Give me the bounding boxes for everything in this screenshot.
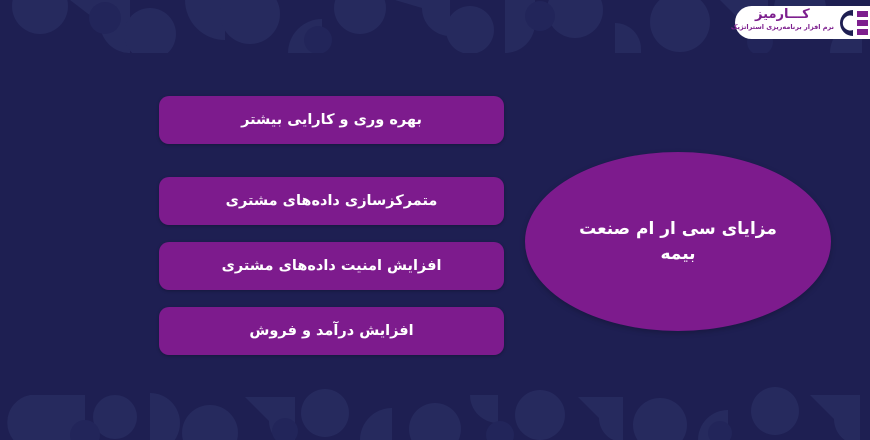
benefit-label: افزایش درآمد و فروش <box>249 323 413 339</box>
slide-canvas: کـــارمیز نرم افزار برنامه‌ریزی استراتژی… <box>0 0 870 440</box>
benefit-box-2[interactable]: متمرکزسازی داده‌های مشتری <box>159 177 504 225</box>
central-topic-line-1: مزایای سی ار ام صنعت <box>579 219 777 239</box>
central-topic-line-2: بیمه <box>660 244 695 264</box>
central-topic-ellipse[interactable]: مزایای سی ار ام صنعت بیمه <box>525 152 831 331</box>
benefit-box-4[interactable]: افزایش درآمد و فروش <box>159 307 504 355</box>
c-shape-bars-logo-icon <box>834 7 868 39</box>
central-topic-label: مزایای سی ار ام صنعت بیمه <box>549 217 807 266</box>
bottom-pattern-band <box>0 385 870 440</box>
bottom-pattern-graphic <box>0 385 870 440</box>
logo-title: کـــارمیز <box>731 8 834 21</box>
benefit-label: بهره وری و کارایی بیشتر <box>241 112 422 128</box>
benefit-label: افزایش امنیت داده‌های مشتری <box>222 258 442 274</box>
benefits-list: بهره وری و کارایی بیشتر متمرکزسازی داده‌… <box>159 96 504 355</box>
logo-subtitle: نرم افزار برنامه‌ریزی استراتژیک <box>731 24 834 31</box>
benefit-label: متمرکزسازی داده‌های مشتری <box>226 193 438 209</box>
logo-text-block: کـــارمیز نرم افزار برنامه‌ریزی استراتژی… <box>731 8 834 31</box>
benefit-box-1[interactable]: بهره وری و کارایی بیشتر <box>159 96 504 144</box>
benefit-box-3[interactable]: افزایش امنیت داده‌های مشتری <box>159 242 504 290</box>
